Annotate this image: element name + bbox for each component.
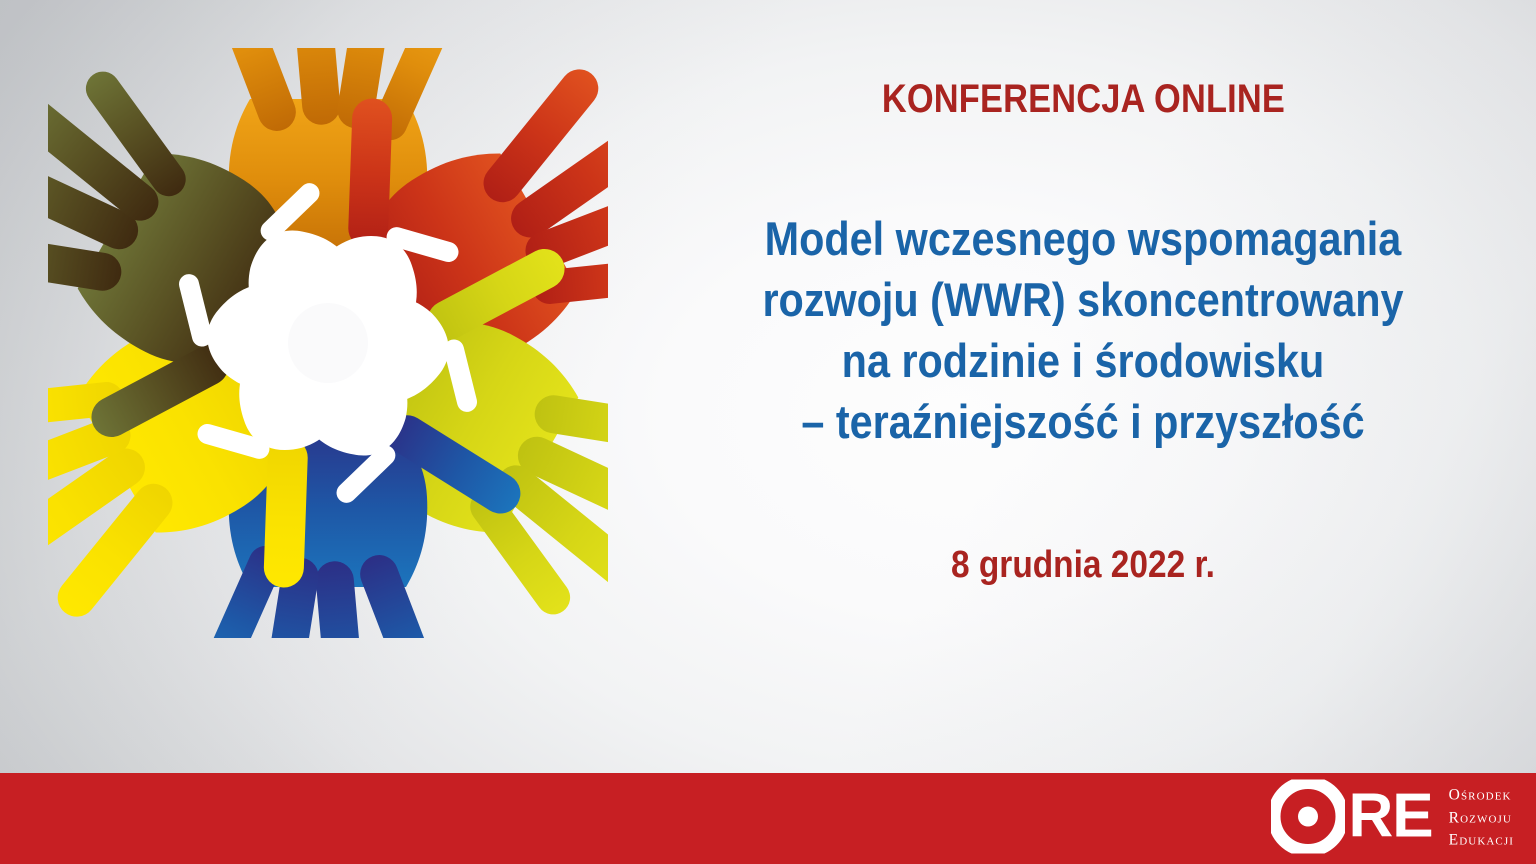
- title-line-1: Model wczesnego wspomagania: [696, 208, 1470, 269]
- title-line-3: na rodzinie i środowisku: [696, 330, 1470, 391]
- conference-kicker: KONFERENCJA ONLINE: [881, 78, 1284, 120]
- ore-wordmark: RE: [1349, 790, 1433, 845]
- footer-bar: RE Ośrodek Rozwoju Edukacji: [0, 773, 1536, 864]
- ore-subtitle-line-1: Ośrodek: [1449, 786, 1514, 806]
- title-line-4: – teraźniejszość i przyszłość: [696, 391, 1470, 452]
- ore-logo: RE Ośrodek Rozwoju Edukacji: [1271, 779, 1514, 858]
- ore-subtitle-line-2: Rozwoju: [1449, 808, 1514, 828]
- event-date: 8 grudnia 2022 r.: [951, 544, 1215, 587]
- title-line-2: rozwoju (WWR) skoncentrowany: [696, 269, 1470, 330]
- page-title: Model wczesnego wspomagania rozwoju (WWR…: [696, 208, 1470, 452]
- ore-circle-mark: [1271, 779, 1345, 858]
- six-hands-circle-emblem: [48, 48, 608, 638]
- emblem-center-gap: [288, 303, 368, 383]
- slide-text-column: KONFERENCJA ONLINE Model wczesnego wspom…: [630, 0, 1536, 773]
- ore-subtitle: Ośrodek Rozwoju Edukacji: [1447, 786, 1514, 851]
- conference-title-slide: KONFERENCJA ONLINE Model wczesnego wspom…: [0, 0, 1536, 864]
- ore-subtitle-line-3: Edukacji: [1449, 831, 1514, 851]
